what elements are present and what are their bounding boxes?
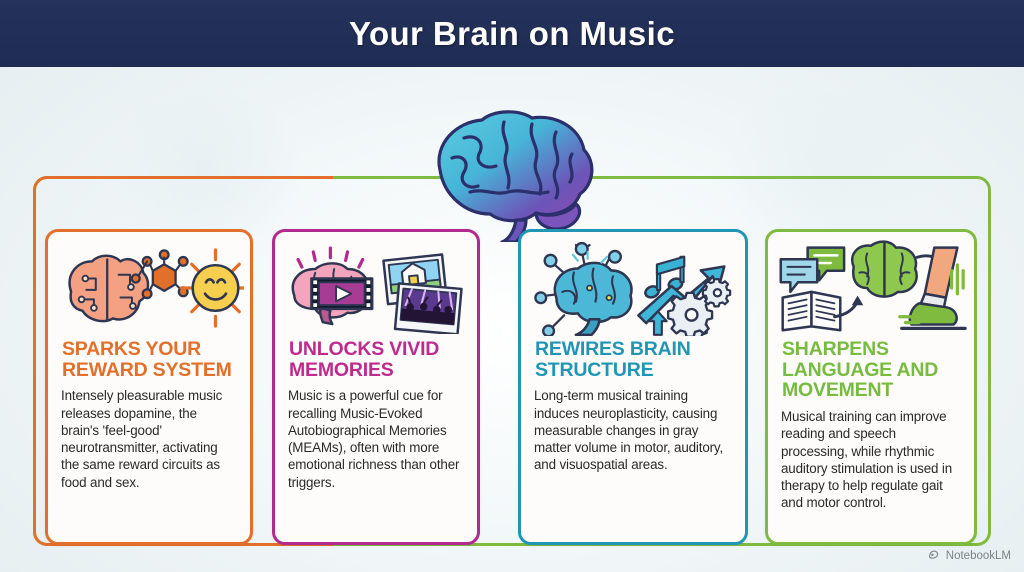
card-heading: REWIRES BRAIN STRUCTURE (535, 339, 731, 380)
card-body: Long-term musical training induces neuro… (534, 387, 732, 473)
card-unlocks-memories[interactable]: UNLOCKS VIVID MEMORIES Music is a powerf… (272, 229, 480, 545)
card-heading: SPARKS YOUR REWARD SYSTEM (62, 339, 236, 380)
card-body: Musical training can improve reading and… (781, 408, 961, 512)
speech-book-brain-gait-icon (768, 232, 974, 337)
notebooklm-icon (928, 548, 941, 564)
infographic-canvas: Your Brain on Music (0, 0, 1024, 572)
card-heading: UNLOCKS VIVID MEMORIES (289, 339, 463, 380)
page-title: Your Brain on Music (349, 15, 675, 53)
card-rewires-structure[interactable]: REWIRES BRAIN STRUCTURE Long-term musica… (518, 229, 748, 545)
card-heading: SHARPENS LANGUAGE AND MOVEMENT (782, 339, 960, 401)
card-sparks-reward[interactable]: SPARKS YOUR REWARD SYSTEM Intensely plea… (45, 229, 253, 545)
watermark: NotebookLM (928, 548, 1011, 564)
card-body: Intensely pleasurable music releases dop… (61, 387, 237, 491)
brain-circuit-molecule-sun-icon (48, 232, 250, 337)
brain-neurons-music-gears-icon (521, 232, 745, 337)
card-body: Music is a powerful cue for recalling Mu… (288, 387, 464, 491)
card-sharpens-language-movement[interactable]: SHARPENS LANGUAGE AND MOVEMENT Musical t… (765, 229, 977, 545)
header-bar: Your Brain on Music (0, 0, 1024, 67)
central-brain-illustration (404, 92, 624, 242)
watermark-label: NotebookLM (946, 550, 1011, 562)
brain-film-photos-icon (275, 232, 477, 337)
